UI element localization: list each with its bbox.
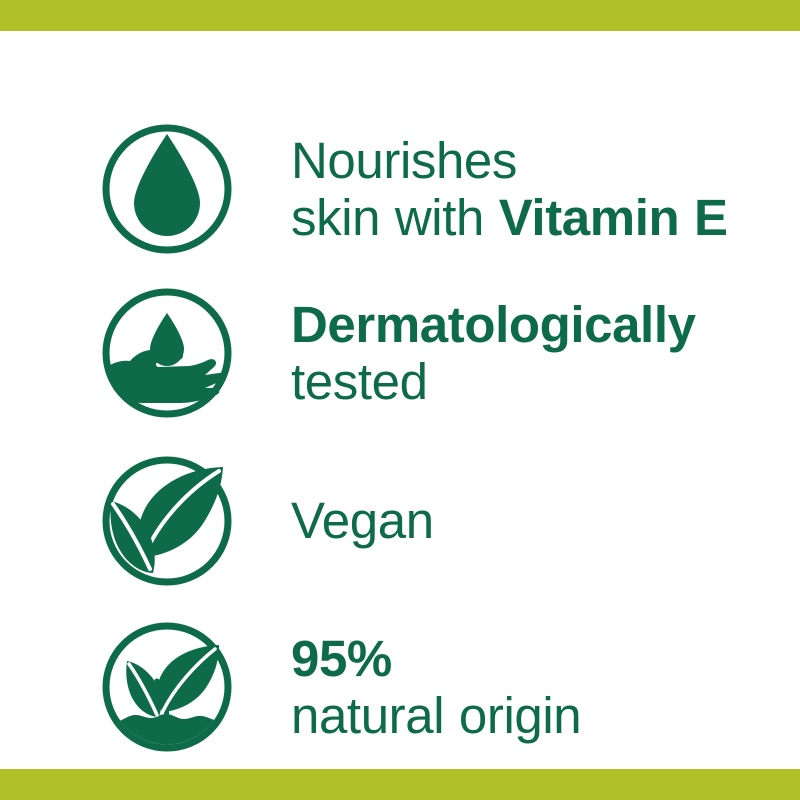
- benefit-label-vegan: Vegan: [291, 492, 800, 549]
- benefit-line-1-bold: 95%: [291, 630, 392, 687]
- benefit-line-2-regular: skin with: [291, 189, 499, 246]
- benefit-line-1: Nourishes: [291, 132, 517, 189]
- benefit-label-natural-origin: 95% natural origin: [291, 630, 800, 744]
- product-benefits-panel: Nourishes skin with Vitamin E Dermatolog…: [0, 0, 800, 800]
- benefit-line-1: Vegan: [291, 492, 434, 549]
- benefit-line-1-bold: Dermatologically: [291, 296, 696, 353]
- benefits-list: Nourishes skin with Vitamin E Dermatolog…: [0, 31, 800, 769]
- benefit-line-2-bold: Vitamin E: [499, 189, 728, 246]
- top-accent-band: [0, 0, 800, 31]
- benefit-label-vitamin-e: Nourishes skin with Vitamin E: [291, 132, 800, 246]
- benefit-item-vegan: Vegan: [0, 426, 800, 616]
- benefit-item-dermatologically-tested: Dermatologically tested: [0, 258, 800, 448]
- bottom-accent-band: [0, 769, 800, 800]
- hand-with-droplet-icon: [87, 273, 247, 433]
- sprout-in-soil-icon: [87, 607, 247, 767]
- two-leaves-icon: [87, 441, 247, 601]
- water-droplet-icon: [87, 109, 247, 269]
- benefit-label-dermatologically-tested: Dermatologically tested: [291, 296, 800, 410]
- benefit-item-vitamin-e: Nourishes skin with Vitamin E: [0, 94, 800, 284]
- benefit-item-natural-origin: 95% natural origin: [0, 592, 800, 782]
- benefit-line-2: natural origin: [291, 687, 581, 744]
- benefit-line-2: tested: [291, 353, 428, 410]
